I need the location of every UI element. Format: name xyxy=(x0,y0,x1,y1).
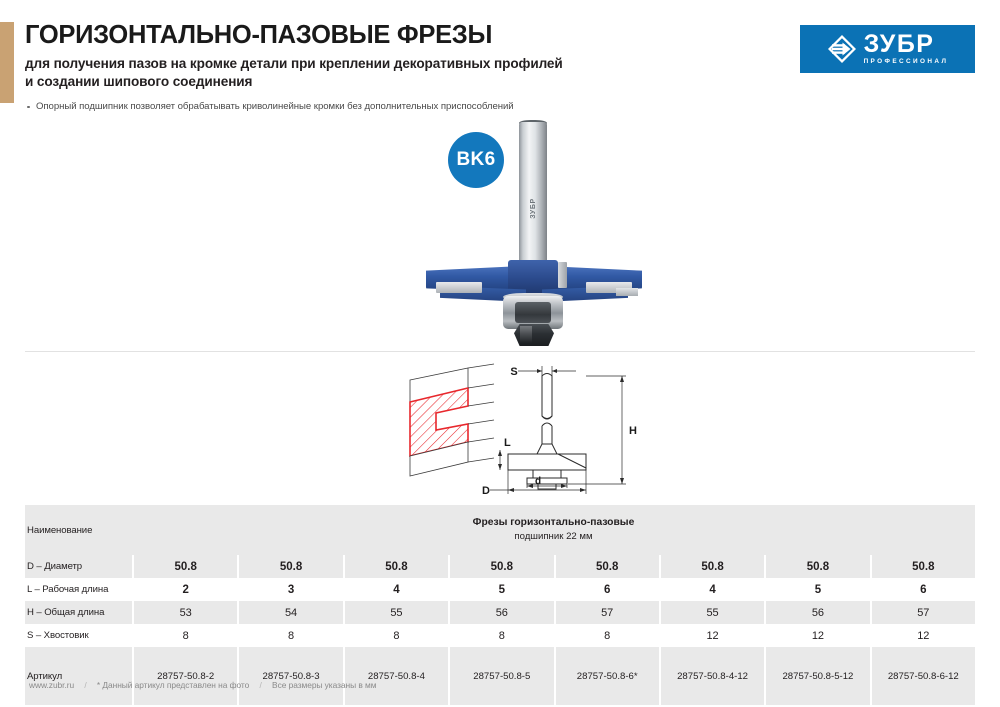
cell-value: 50.8 xyxy=(132,555,237,578)
cell-value: 54 xyxy=(237,601,342,624)
carbide-tip-left xyxy=(436,282,482,293)
brand-tagline: ПРОФЕССИОНАЛ xyxy=(864,59,949,65)
bearing-inner-race xyxy=(515,302,551,323)
cell-value: 2 xyxy=(132,578,237,601)
table-row-working-length: L – Рабочая длина 2 3 4 5 6 4 5 6 xyxy=(25,578,975,601)
cell-value: 4 xyxy=(659,578,764,601)
table-row-total-length: H – Общая длина 53 54 55 56 57 55 56 57 xyxy=(25,601,975,624)
row-label: D – Диаметр xyxy=(25,555,132,578)
group-subtitle: подшипник 22 мм xyxy=(514,531,592,544)
cell-value: 50.8 xyxy=(448,555,553,578)
article-cell: 28757-50.8-5-12 xyxy=(764,647,869,705)
cell-value: 12 xyxy=(659,624,764,647)
cell-value: 55 xyxy=(343,601,448,624)
table-row-diameter: D – Диаметр 50.8 50.8 50.8 50.8 50.8 50.… xyxy=(25,555,975,578)
row-label-header: Наименование xyxy=(25,505,132,555)
cell-value: 53 xyxy=(132,601,237,624)
cell-value: 8 xyxy=(448,624,553,647)
dim-label-s: S xyxy=(510,366,517,378)
cell-value: 50.8 xyxy=(237,555,342,578)
header-block: ГОРИЗОНТАЛЬНО-ПАЗОВЫЕ ФРЕЗЫ для получени… xyxy=(25,22,725,113)
wood-joint-illustration xyxy=(410,364,494,476)
spec-table: Наименование Фрезы горизонтально-пазовые… xyxy=(25,505,975,705)
cell-value: 8 xyxy=(132,624,237,647)
table-row-shank: S – Хвостовик 8 8 8 8 8 12 12 12 xyxy=(25,624,975,647)
carbide-tip-edge xyxy=(616,288,638,296)
table-header-row: Наименование Фрезы горизонтально-пазовые… xyxy=(25,505,975,555)
footer-separator: / xyxy=(84,680,86,690)
cell-value: 50.8 xyxy=(343,555,448,578)
cell-value: 12 xyxy=(764,624,869,647)
status-badge: BK6 xyxy=(448,132,504,188)
cell-value: 8 xyxy=(237,624,342,647)
dim-label-h: H xyxy=(629,425,637,437)
section-divider xyxy=(25,351,975,352)
carbide-tip-center xyxy=(558,262,567,288)
dim-label-d-upper: D xyxy=(482,485,490,497)
footer-photo-note: * Данный артикул представлен на фото xyxy=(97,680,249,690)
cell-value: 56 xyxy=(764,601,869,624)
cell-value: 5 xyxy=(764,578,869,601)
dim-label-l: L xyxy=(504,437,511,449)
brand-logo: ЗУБР ПРОФЕССИОНАЛ xyxy=(800,25,975,73)
row-label: S – Хвостовик xyxy=(25,624,132,647)
dim-label-d-lower: d xyxy=(535,476,541,487)
article-cell: 28757-50.8-6* xyxy=(554,647,659,705)
row-label: Артикул xyxy=(25,647,132,705)
article-cell: 28757-50.8-3 xyxy=(237,647,342,705)
product-photo: BK6 ЗУБР xyxy=(420,110,650,345)
article-cell: 28757-50.8-6-12 xyxy=(870,647,975,705)
row-label: L – Рабочая длина xyxy=(25,578,132,601)
hex-nut-highlight xyxy=(520,326,532,343)
footer: www.zubr.ru / * Данный артикул представл… xyxy=(25,680,380,690)
cell-value: 8 xyxy=(343,624,448,647)
cell-value: 50.8 xyxy=(554,555,659,578)
page-title: ГОРИЗОНТАЛЬНО-ПАЗОВЫЕ ФРЕЗЫ xyxy=(25,22,725,49)
subtitle-line-2: и создании шипового соединения xyxy=(25,73,725,91)
subtitle-line-1: для получения пазов на кромке детали при… xyxy=(25,55,725,73)
cell-value: 8 xyxy=(554,624,659,647)
cell-value: 5 xyxy=(448,578,553,601)
cutter-hub xyxy=(508,260,558,294)
page-subtitle: для получения пазов на кромке детали при… xyxy=(25,55,725,91)
footer-separator: / xyxy=(259,680,261,690)
group-header-cell: Фрезы горизонтально-пазовые подшипник 22… xyxy=(132,505,975,555)
cell-value: 50.8 xyxy=(764,555,869,578)
shank-engraving-text: ЗУБР xyxy=(529,198,536,219)
article-cell: 28757-50.8-4 xyxy=(343,647,448,705)
table-row-article: Артикул 28757-50.8-2 28757-50.8-3 28757-… xyxy=(25,647,975,705)
accent-bar xyxy=(0,22,14,103)
cell-value: 12 xyxy=(870,624,975,647)
cell-value: 57 xyxy=(554,601,659,624)
zubr-arrow-diamond-icon xyxy=(827,34,857,64)
cell-value: 3 xyxy=(237,578,342,601)
cell-value: 50.8 xyxy=(659,555,764,578)
cutter-outline xyxy=(508,374,586,490)
cell-value: 57 xyxy=(870,601,975,624)
shank-engraving: ЗУБР xyxy=(519,182,547,234)
technical-diagram: S H L D d xyxy=(390,358,680,498)
group-title: Фрезы горизонтально-пазовые xyxy=(473,516,635,530)
cell-value: 50.8 xyxy=(870,555,975,578)
cell-value: 55 xyxy=(659,601,764,624)
cell-value: 4 xyxy=(343,578,448,601)
footer-units-note: Все размеры указаны в мм xyxy=(272,680,376,690)
row-label: H – Общая длина xyxy=(25,601,132,624)
cell-value: 6 xyxy=(870,578,975,601)
article-cell: 28757-50.8-4-12 xyxy=(659,647,764,705)
datasheet-page: ГОРИЗОНТАЛЬНО-ПАЗОВЫЕ ФРЕЗЫ для получени… xyxy=(0,0,1000,707)
brand-name: ЗУБР xyxy=(864,32,935,57)
footer-site-link[interactable]: www.zubr.ru xyxy=(29,680,74,690)
cell-value: 6 xyxy=(554,578,659,601)
article-cell: 28757-50.8-5 xyxy=(448,647,553,705)
cell-value: 56 xyxy=(448,601,553,624)
article-cell: 28757-50.8-2 xyxy=(132,647,237,705)
